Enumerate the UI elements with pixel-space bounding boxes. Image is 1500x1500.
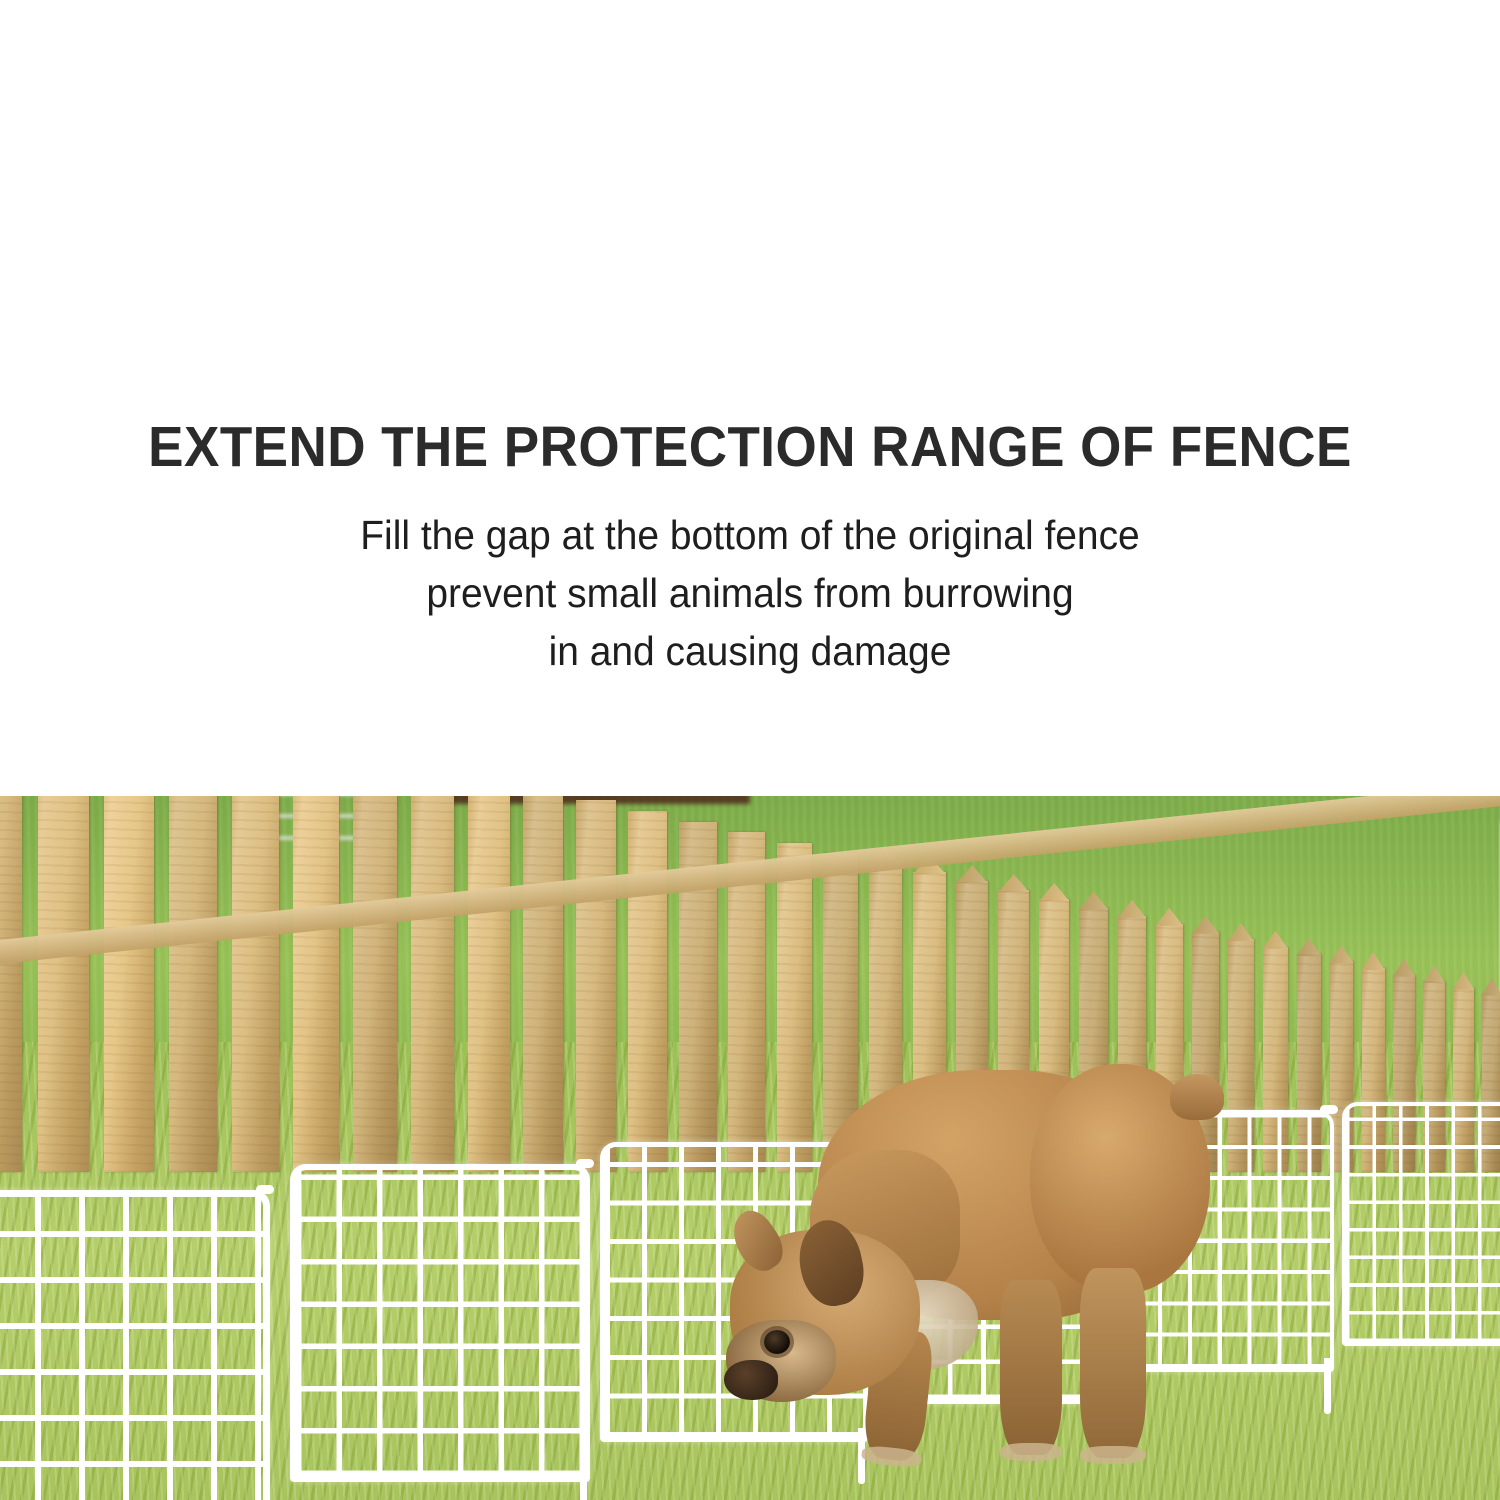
dog-hind-leg-near — [1000, 1280, 1062, 1455]
picket-tip — [1192, 916, 1219, 934]
dog-paw — [1000, 1443, 1062, 1461]
picket-tip — [956, 865, 988, 883]
panel-connector-knob — [576, 1159, 594, 1168]
rabbit — [300, 150, 460, 280]
picket-tip — [1156, 908, 1184, 926]
deer-foreleg — [1084, 276, 1180, 298]
text-section: EXTEND THE PROTECTION RANGE OF FENCE Fil… — [0, 326, 1500, 796]
photo-rabbit-lattice-fence — [0, 0, 742, 326]
rabbit-eye-right — [428, 218, 436, 227]
picket-tip — [1263, 931, 1288, 949]
top-photo-row — [0, 0, 1500, 326]
picket-tip — [1118, 900, 1146, 918]
picket-tip — [1079, 892, 1108, 910]
deer-rump — [1230, 184, 1370, 292]
panel-connector-knob — [256, 1185, 274, 1194]
french-bulldog — [700, 1030, 1300, 1500]
deer — [980, 58, 1400, 308]
picket-tip — [1453, 972, 1474, 990]
picket-tip — [1362, 952, 1385, 970]
dog-paw — [861, 1445, 923, 1469]
picket-tip — [1330, 945, 1354, 963]
product-feature-image: EXTEND THE PROTECTION RANGE OF FENCE Fil… — [0, 0, 1500, 1500]
picket-tip — [1039, 883, 1069, 901]
subtitle-line-1: Fill the gap at the bottom of the origin… — [38, 506, 1463, 564]
panel-ground-stake — [1324, 1358, 1331, 1414]
page-title: EXTEND THE PROTECTION RANGE OF FENCE — [53, 414, 1448, 480]
picket-tip — [1423, 965, 1445, 983]
picket-tip — [1297, 938, 1322, 956]
dog-eye — [764, 1330, 790, 1354]
wire-fence-panel — [290, 1164, 590, 1482]
panel-ground-stake — [580, 1468, 587, 1500]
rabbit-muzzle — [396, 236, 422, 254]
picket-tip — [1482, 978, 1500, 996]
picket-tip — [1393, 959, 1416, 977]
dog-paw — [1080, 1446, 1146, 1464]
wire-fence-panel — [0, 1190, 270, 1500]
wire-fence-panel — [1342, 1102, 1500, 1346]
subtitle-line-3: in and causing damage — [38, 622, 1463, 680]
subtitle-block: Fill the gap at the bottom of the origin… — [38, 506, 1463, 681]
dog-tail — [1170, 1074, 1224, 1120]
photo-deer-lawn — [760, 0, 1500, 326]
dog-nose — [724, 1360, 778, 1400]
dog-hind-leg-far — [1080, 1268, 1146, 1458]
photo-gutter — [742, 0, 760, 326]
picket-tip — [998, 874, 1029, 892]
picket-tip — [1228, 923, 1254, 941]
subtitle-line-2: prevent small animals from burrowing — [38, 564, 1463, 622]
rabbit-eye-left — [382, 218, 390, 227]
panel-connector-knob — [1320, 1105, 1338, 1114]
